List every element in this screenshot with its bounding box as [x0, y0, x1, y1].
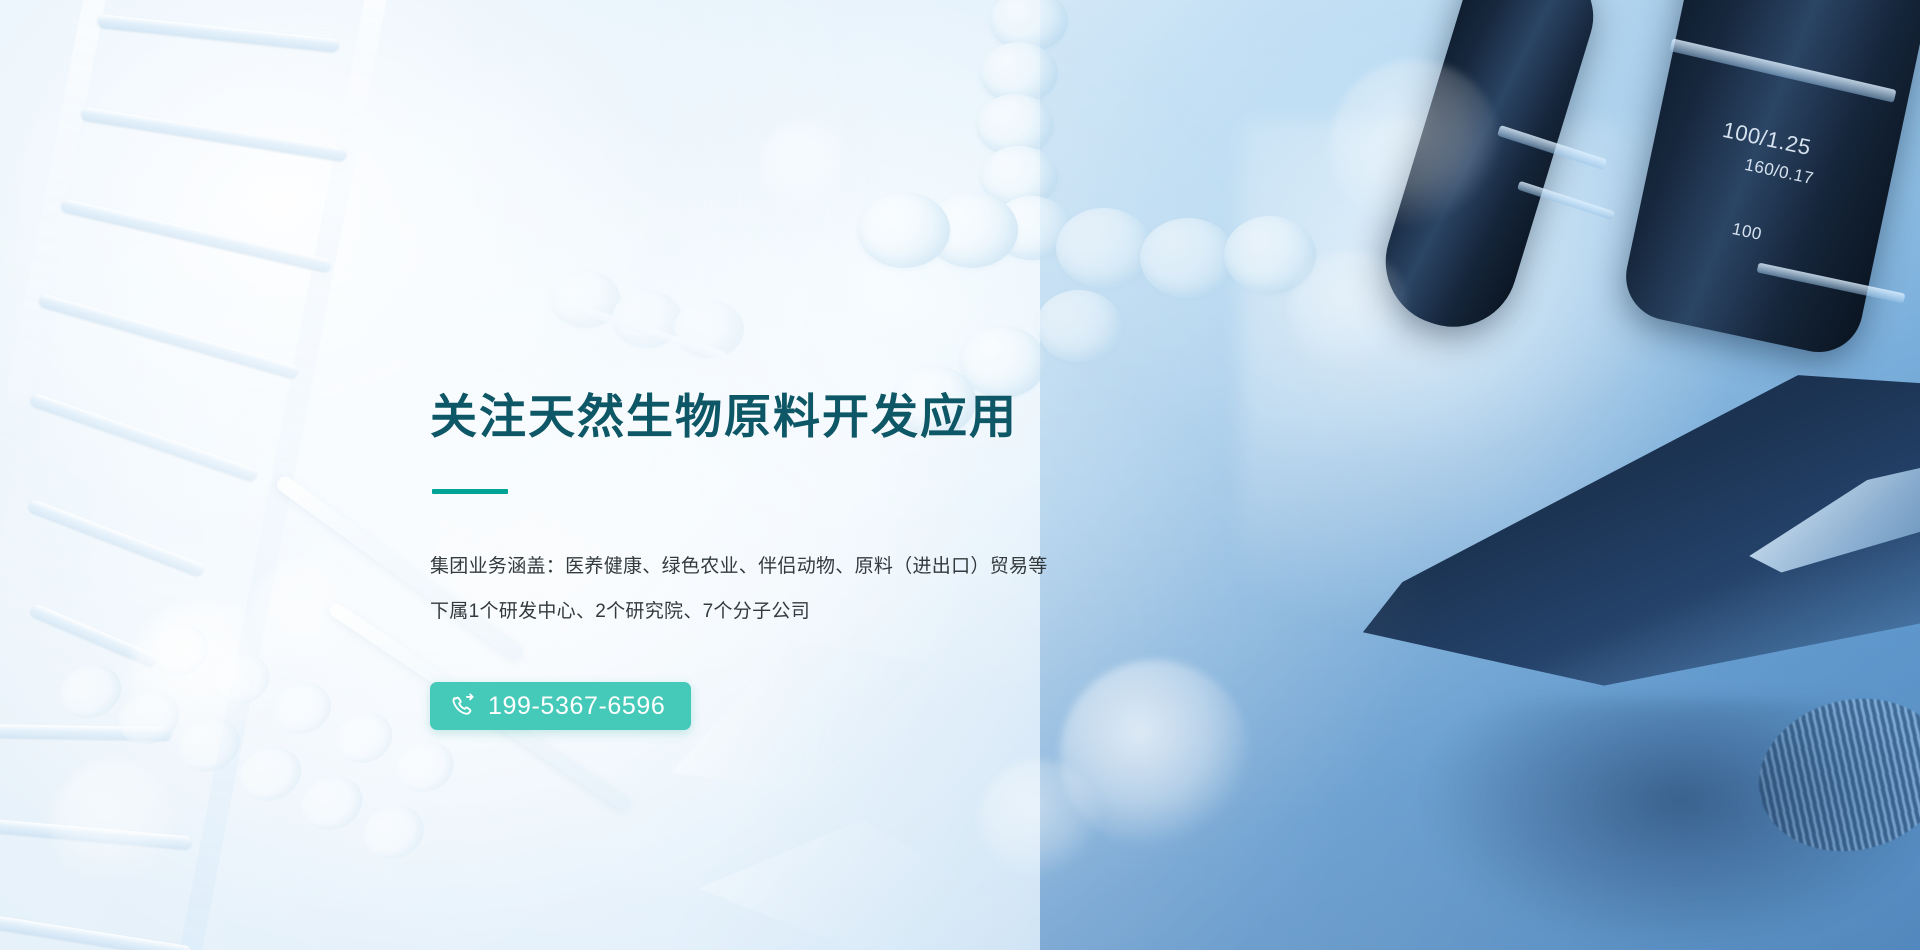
helix-rung	[27, 498, 205, 577]
bokeh-light	[1330, 60, 1500, 230]
helix-bead	[389, 733, 462, 801]
subtitle-line-1: 集团业务涵盖：医养健康、绿色农业、伴侣动物、原料（进出口）贸易等	[430, 544, 1250, 589]
microscope-base-shadow	[1420, 700, 1920, 950]
helix-rung	[97, 14, 339, 52]
molecule-atom	[1056, 208, 1152, 288]
subtitle-line-2: 下属1个研发中心、2个研究院、7个分子公司	[430, 589, 1250, 634]
molecule-atom	[1140, 218, 1236, 298]
phone-number-label: 199-5367-6596	[488, 694, 665, 719]
bokeh-light	[250, 560, 360, 670]
molecular-bead-chain	[840, 0, 1360, 440]
molecule-atom	[1036, 290, 1122, 362]
hero-content: 关注天然生物原料开发应用 集团业务涵盖：医养健康、绿色农业、伴侣动物、原料（进出…	[430, 392, 1250, 730]
page-title: 关注天然生物原料开发应用	[430, 392, 1250, 441]
hero-banner: 40 100/1.25 160/0.17 100	[0, 0, 1920, 950]
bokeh-light	[760, 120, 850, 210]
helix-rung	[29, 392, 258, 482]
helix-rung	[81, 107, 348, 162]
helix-bead	[355, 797, 432, 868]
phone-forward-icon	[450, 693, 476, 719]
hero-subtitle: 集团业务涵盖：医养健康、绿色农业、伴侣动物、原料（进出口）贸易等 下属1个研发中…	[430, 544, 1250, 634]
title-divider	[432, 489, 508, 494]
bokeh-light	[980, 760, 1100, 880]
molecule-atom	[858, 192, 950, 268]
helix-bead	[328, 703, 401, 771]
helix-rung	[38, 293, 299, 379]
bokeh-light	[50, 760, 180, 890]
phone-cta-button[interactable]: 199-5367-6596	[430, 682, 691, 730]
helix-bead	[294, 767, 371, 838]
helix-rung	[60, 198, 332, 273]
helix-bead	[232, 738, 309, 809]
bokeh-light	[1290, 250, 1410, 370]
